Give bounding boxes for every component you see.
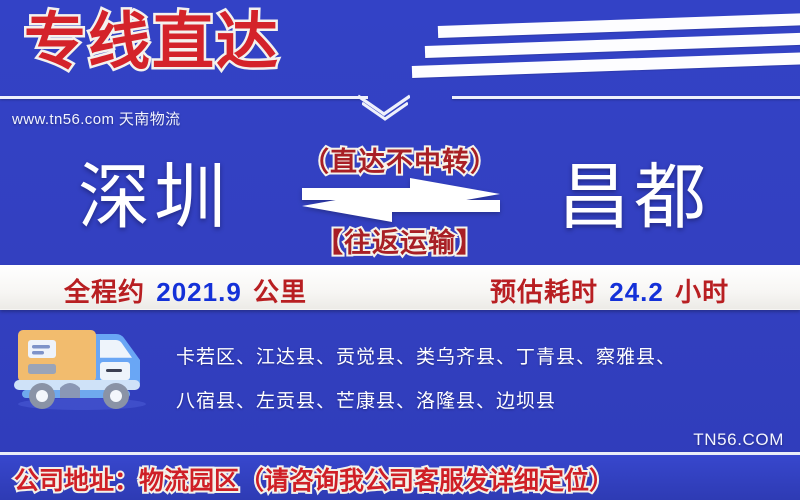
direct-service-badge: （直达不中转） [0, 140, 800, 179]
coverage-line-2: 八宿县、左贡县、芒康县、洛隆县、边坝县 [176, 380, 786, 424]
distance-label-prefix: 全程约 [64, 277, 145, 307]
distance-metric: 全程约 2021.9 公里 [64, 272, 307, 309]
round-trip-badge: 【往返运输】 [0, 221, 800, 260]
divider-rule-left [0, 96, 368, 99]
company-address-text: 公司地址：物流园区（请咨询我公司客服发详细定位） [14, 461, 614, 497]
duration-metric: 预估耗时 24.2 小时 [490, 272, 729, 309]
duration-label-prefix: 预估耗时 [490, 277, 598, 307]
duration-label-suffix: 小时 [675, 277, 729, 307]
site-url-label: www.tn56.com 天南物流 [12, 108, 181, 129]
watermark-label: TN56.COM [693, 430, 784, 450]
distance-value: 2021.9 [153, 277, 245, 307]
divider-rule-right [452, 96, 800, 99]
poster-canvas: 专线直达 专线直达 www.tn56.com 天南物流 深圳 昌都 （直达不中转… [0, 0, 800, 500]
duration-value: 24.2 [606, 277, 667, 307]
delivery-truck-icon [8, 316, 156, 412]
coverage-area-list: 卡若区、江达县、贡觉县、类乌齐县、丁青县、察雅县、 八宿县、左贡县、芒康县、洛隆… [176, 336, 786, 424]
distance-label-suffix: 公里 [253, 277, 307, 307]
coverage-line-1: 卡若区、江达县、贡觉县、类乌齐县、丁青县、察雅县、 [176, 336, 786, 380]
chevron-down-icon-inner [362, 102, 414, 124]
page-title: 专线直达 [24, 4, 280, 82]
bidirectional-arrow-icon [286, 178, 516, 222]
